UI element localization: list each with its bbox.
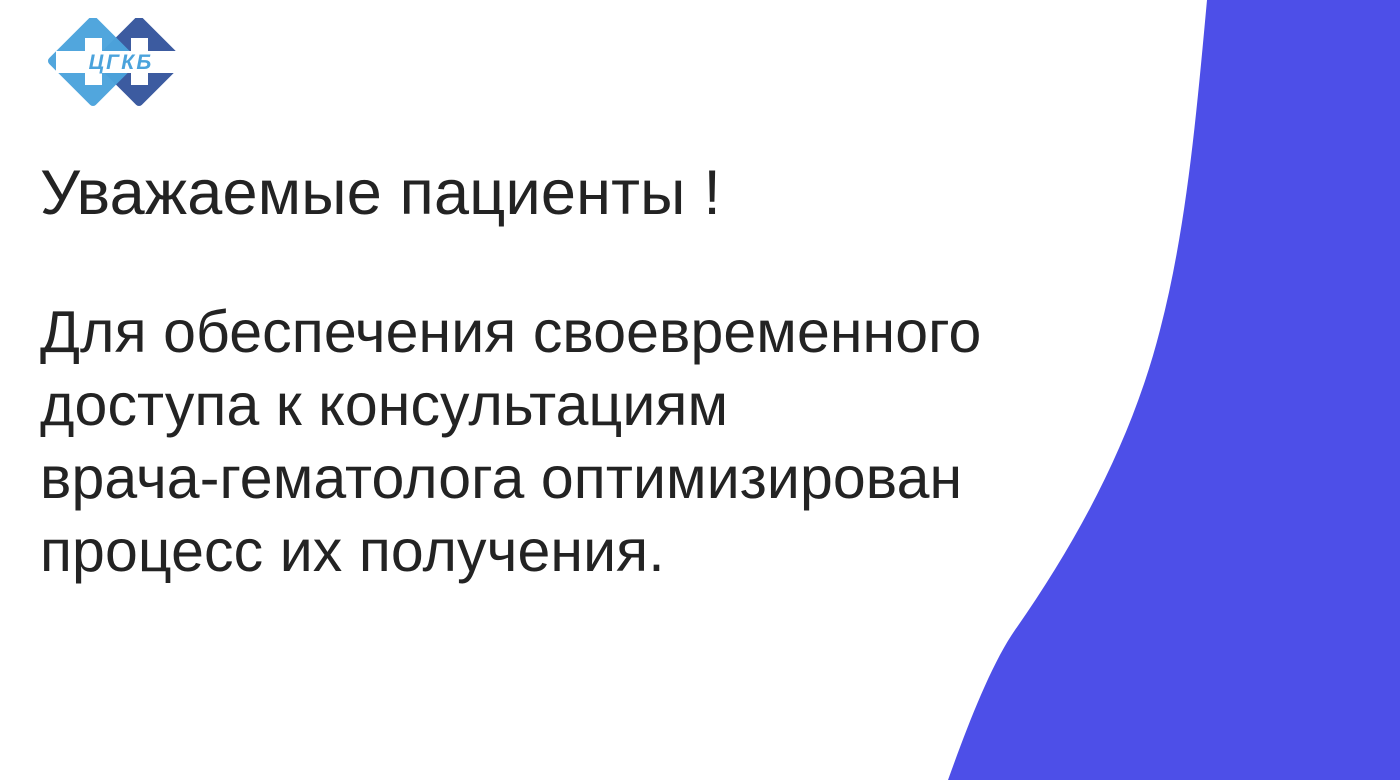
body-line: Для обеспечения своевременного: [40, 296, 1050, 369]
cgkb-hospital-logo: ЦГКБ: [36, 18, 208, 128]
slide-text-block: Уважаемые пациенты ! Для обеспечения сво…: [40, 160, 1050, 588]
logo-wordmark: ЦГКБ: [89, 51, 154, 74]
body-line: доступа к консультациям: [40, 369, 1050, 442]
body-paragraph: Для обеспечения своевременного доступа к…: [40, 226, 1050, 588]
page-title: Уважаемые пациенты !: [40, 160, 1050, 226]
body-line: процесс их получения.: [40, 515, 1050, 588]
body-line: врача-гематолога оптимизирован: [40, 442, 1050, 515]
announcement-slide: ЦГКБ Уважаемые пациенты ! Для обеспечени…: [0, 0, 1400, 780]
